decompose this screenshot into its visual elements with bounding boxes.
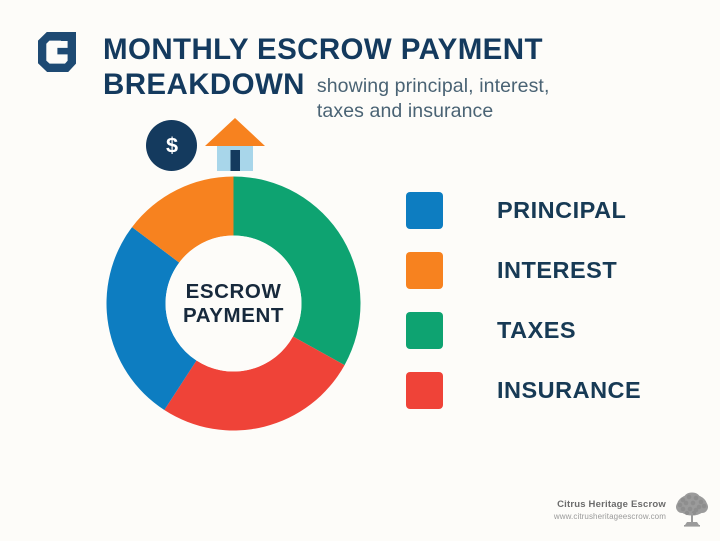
citrus-tree-icon: [674, 491, 710, 529]
legend-swatch-icon: [406, 312, 443, 349]
escrow-payment-donut-chart: ESCROW PAYMENT: [106, 176, 361, 431]
svg-text:$: $: [165, 133, 177, 158]
legend-item-principal[interactable]: PRINCIPAL: [406, 180, 666, 240]
legend-item-label: TAXES: [497, 317, 576, 344]
page-subtitle-line-2: taxes and insurance: [317, 99, 550, 124]
header: MONTHLY ESCROW PAYMENT BREAKDOWN showing…: [0, 0, 720, 120]
title-block: MONTHLY ESCROW PAYMENT BREAKDOWN showing…: [103, 33, 663, 126]
house-icon: [204, 116, 266, 173]
legend-item-label: INTEREST: [497, 257, 617, 284]
legend-swatch-icon: [406, 192, 443, 229]
footer-company-name: Citrus Heritage Escrow: [554, 498, 666, 511]
page-title-line-1: MONTHLY ESCROW PAYMENT: [103, 33, 663, 67]
legend-swatch-icon: [406, 372, 443, 409]
page-subtitle-line-1: showing principal, interest,: [317, 74, 550, 99]
dollar-sign-badge-icon: $: [146, 120, 197, 171]
footer-text: Citrus Heritage Escrow www.citrusheritag…: [554, 498, 666, 523]
legend-item-taxes[interactable]: TAXES: [406, 300, 666, 360]
chart-legend: PRINCIPAL INTEREST TAXES INSURANCE: [406, 180, 666, 420]
footer-website-url[interactable]: www.citrusheritageescrow.com: [554, 511, 666, 523]
legend-swatch-icon: [406, 252, 443, 289]
page-subtitle: showing principal, interest, taxes and i…: [317, 74, 550, 124]
legend-item-insurance[interactable]: INSURANCE: [406, 360, 666, 420]
legend-item-label: PRINCIPAL: [497, 197, 626, 224]
legend-item-interest[interactable]: INTEREST: [406, 240, 666, 300]
page-title-line-2: BREAKDOWN: [103, 68, 305, 102]
citrus-heritage-g-logo-icon: [38, 32, 76, 72]
legend-item-label: INSURANCE: [497, 377, 641, 404]
donut-hole: [166, 236, 302, 372]
icon-row: $: [144, 116, 274, 176]
footer: Citrus Heritage Escrow www.citrusheritag…: [554, 491, 710, 529]
